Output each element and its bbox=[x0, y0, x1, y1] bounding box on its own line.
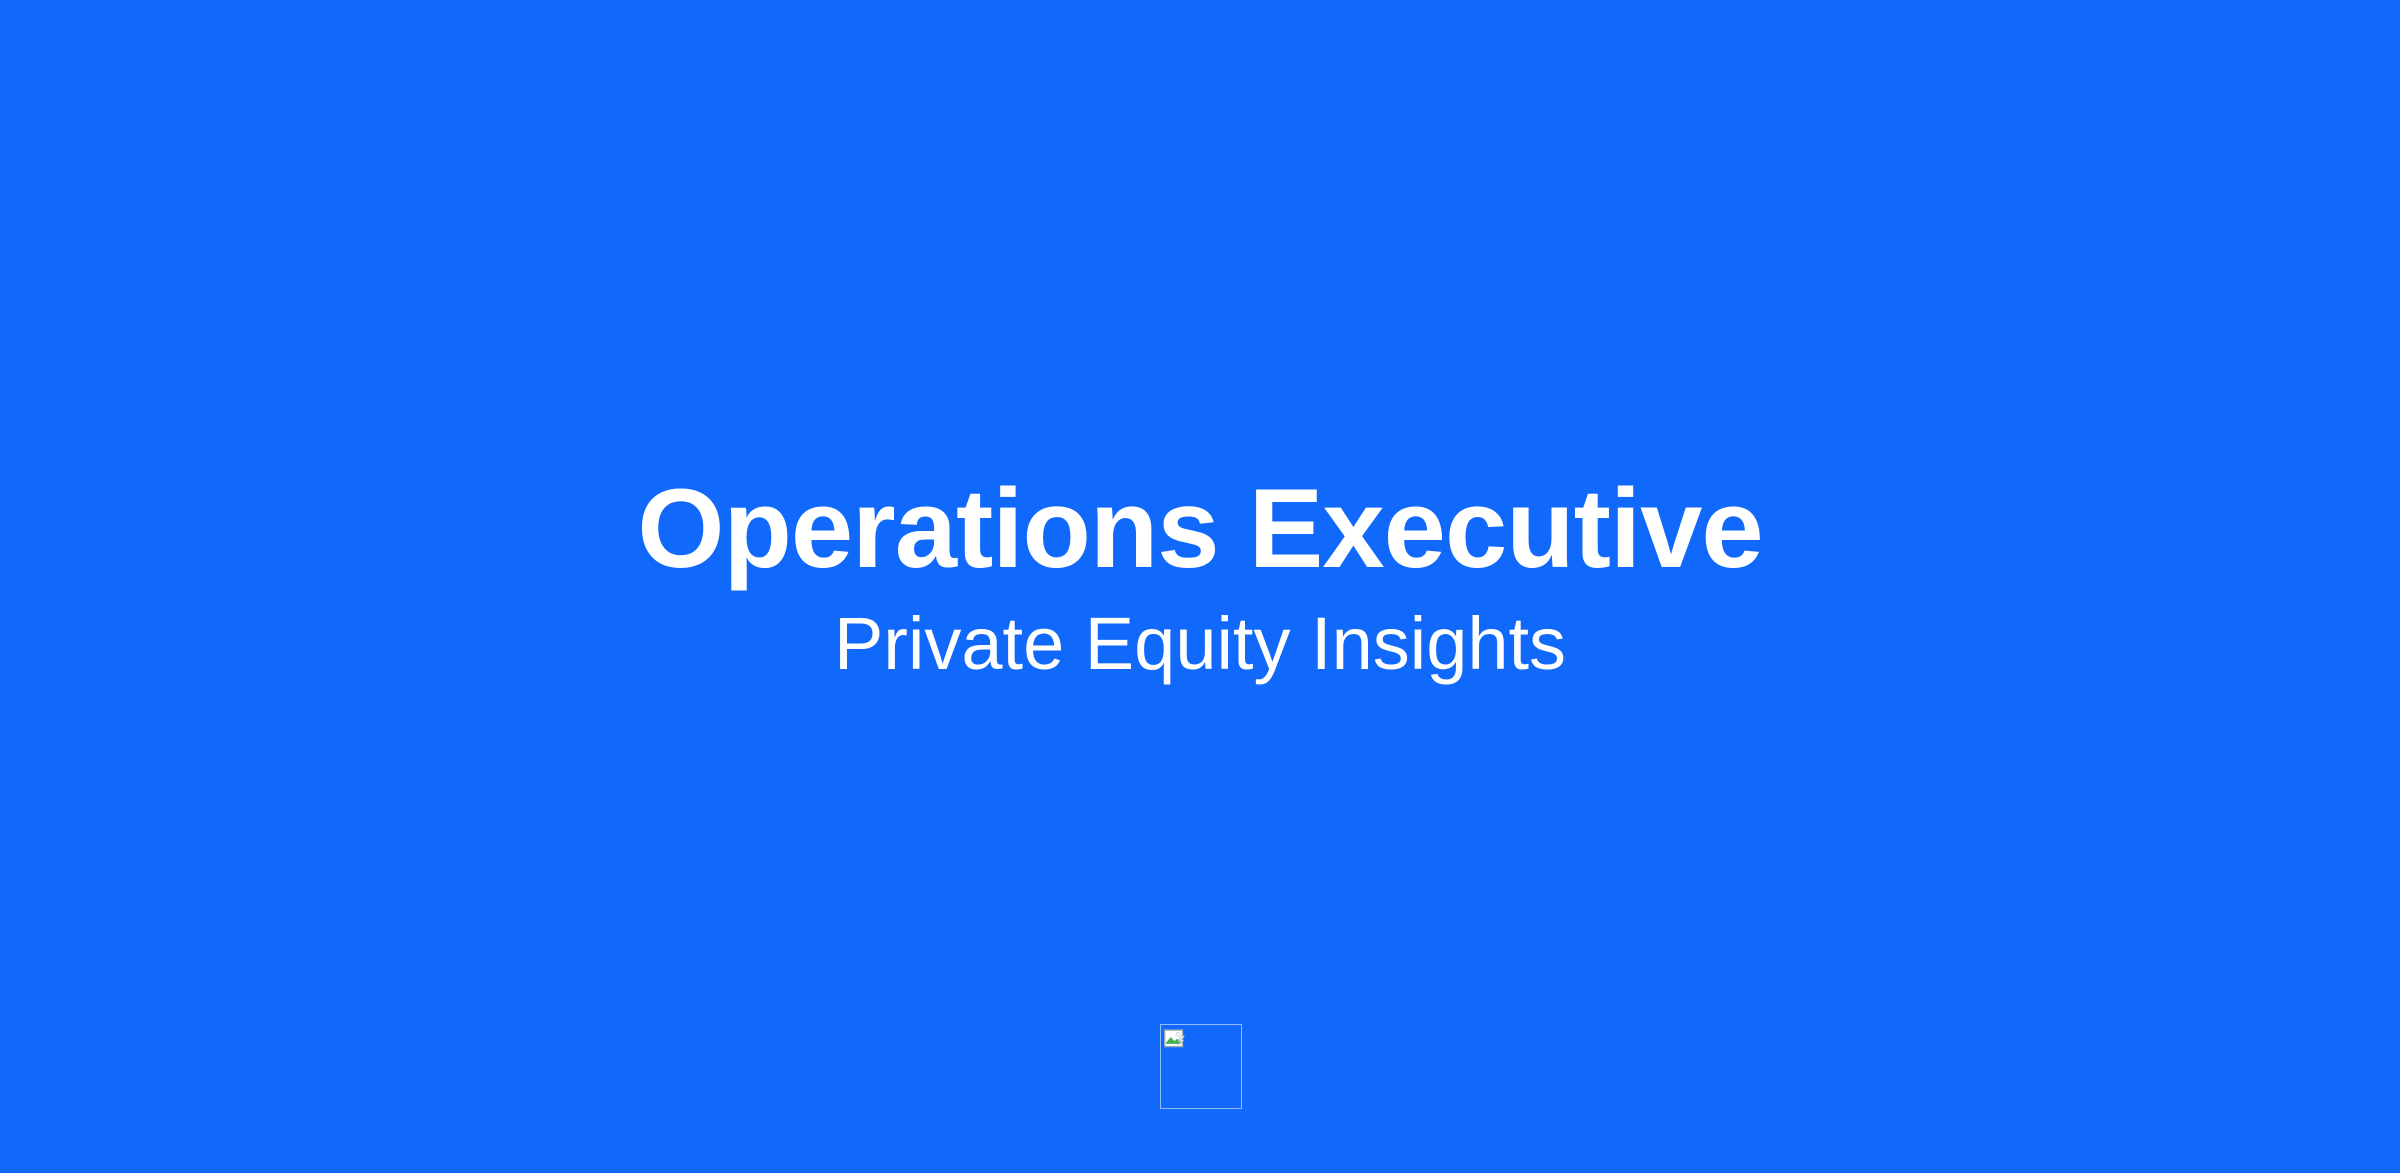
page-title: Operations Executive bbox=[0, 470, 2400, 588]
broken-image-placeholder[interactable] bbox=[1160, 1024, 1242, 1109]
title-block: Operations Executive Private Equity Insi… bbox=[0, 0, 2400, 1173]
page-subtitle: Private Equity Insights bbox=[0, 601, 2400, 687]
broken-image-icon bbox=[1164, 1028, 1186, 1050]
title-slide: Operations Executive Private Equity Insi… bbox=[0, 0, 2400, 1173]
